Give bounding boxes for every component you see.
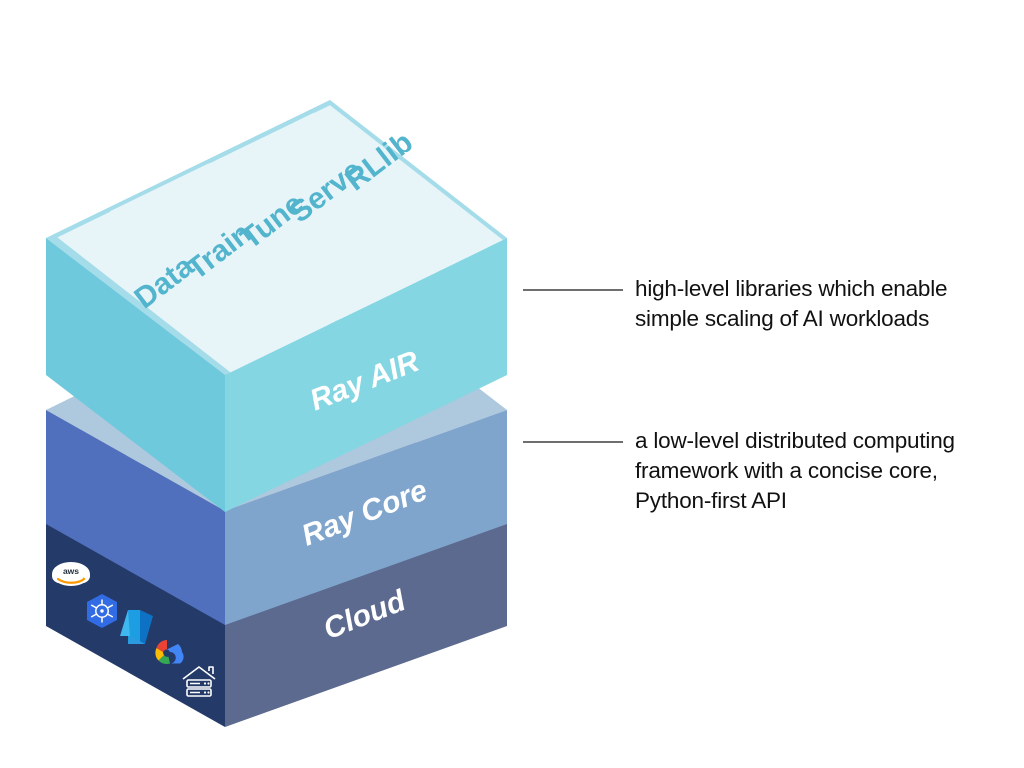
annotation-ray-core: a low-level distributed computing framew… (635, 426, 965, 516)
annotation-ray-air: high-level libraries which enable simple… (635, 274, 965, 334)
svg-text:aws: aws (63, 566, 79, 576)
ray-stack-illustration: Cloud aws (0, 0, 1024, 768)
aws-icon: aws (52, 562, 90, 586)
diagram-canvas: Cloud aws (0, 0, 1024, 768)
